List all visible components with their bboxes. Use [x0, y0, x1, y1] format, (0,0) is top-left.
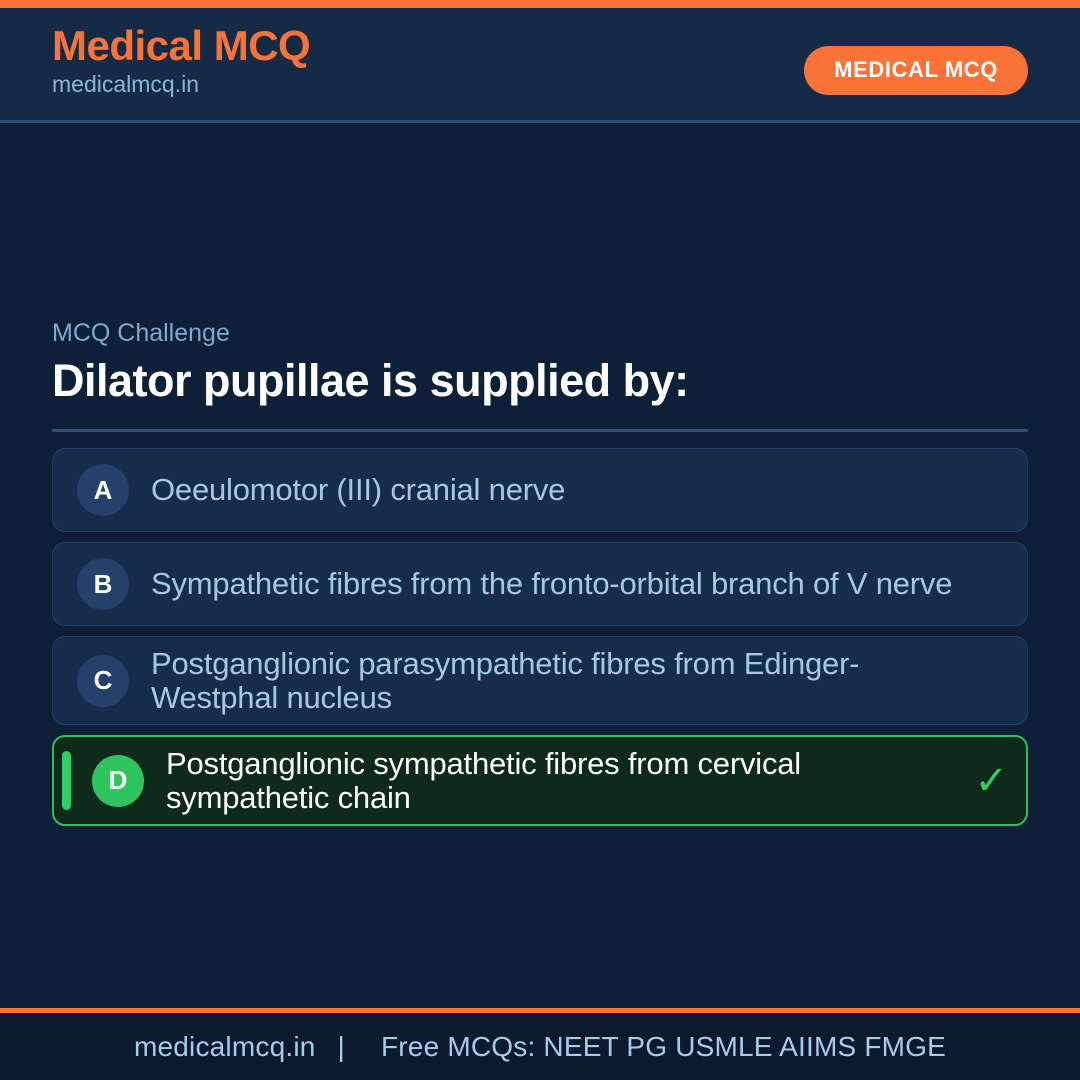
- question-divider: [52, 429, 1028, 432]
- main-content: MCQ Challenge Dilator pupillae is suppli…: [52, 318, 1028, 826]
- footer-text: medicalmcq.in | Free MCQs: NEET PG USMLE…: [134, 1031, 946, 1063]
- option-a-letter: A: [77, 464, 129, 516]
- brand-title: Medical MCQ: [52, 22, 310, 69]
- page-header: Medical MCQ medicalmcq.in MEDICAL MCQ: [0, 8, 1080, 123]
- footer-separator: |: [324, 1031, 359, 1062]
- top-accent-bar: [0, 0, 1080, 8]
- options-list: A Oeeulomotor (III) cranial nerve B Symp…: [52, 448, 1028, 826]
- option-a-text: Oeeulomotor (III) cranial nerve: [151, 473, 565, 506]
- option-d[interactable]: D Postganglionic sympathetic fibres from…: [52, 735, 1028, 826]
- option-c[interactable]: C Postganglionic parasympathetic fibres …: [52, 636, 1028, 725]
- option-b-letter: B: [77, 558, 129, 610]
- brand-subtitle: medicalmcq.in: [52, 71, 310, 99]
- question-text: Dilator pupillae is supplied by:: [52, 354, 1028, 407]
- option-b[interactable]: B Sympathetic fibres from the fronto-orb…: [52, 542, 1028, 626]
- option-c-letter: C: [77, 655, 129, 707]
- eyebrow-label: MCQ Challenge: [52, 318, 1028, 348]
- option-d-text: Postganglionic sympathetic fibres from c…: [166, 747, 968, 814]
- header-badge: MEDICAL MCQ: [804, 46, 1028, 95]
- option-c-text: Postganglionic parasympathetic fibres fr…: [151, 647, 969, 714]
- check-icon: ✓: [974, 761, 1008, 801]
- correct-accent-bar: [62, 751, 71, 810]
- option-b-text: Sympathetic fibres from the fronto-orbit…: [151, 567, 952, 600]
- page-footer: medicalmcq.in | Free MCQs: NEET PG USMLE…: [0, 1008, 1080, 1080]
- brand: Medical MCQ medicalmcq.in: [52, 22, 310, 99]
- footer-site: medicalmcq.in: [134, 1031, 316, 1062]
- option-a[interactable]: A Oeeulomotor (III) cranial nerve: [52, 448, 1028, 532]
- option-d-letter: D: [92, 755, 144, 807]
- footer-tagline: Free MCQs: NEET PG USMLE AIIMS FMGE: [367, 1031, 946, 1062]
